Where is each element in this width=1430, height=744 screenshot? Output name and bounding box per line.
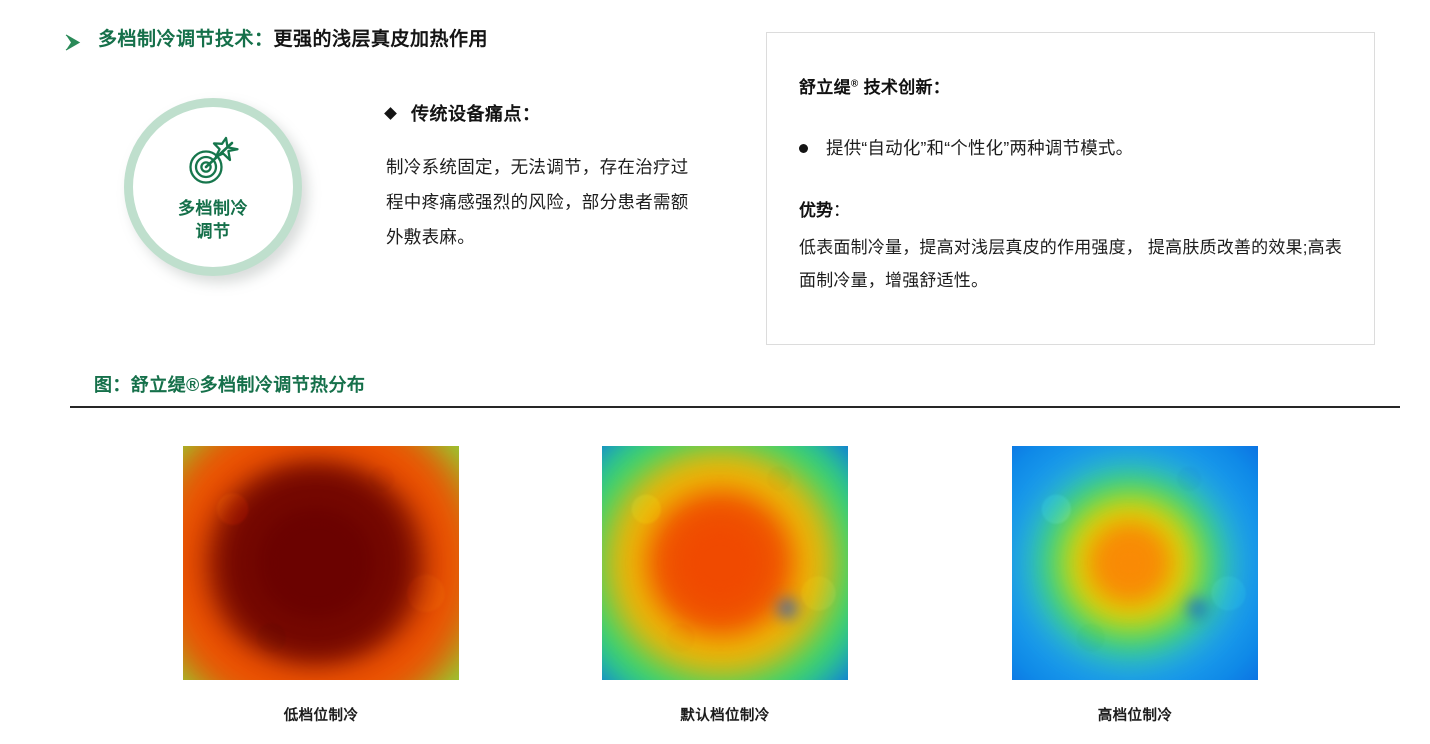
section-heading: 多档制冷调节技术：更强的浅层真皮加热作用	[62, 28, 488, 54]
badge-label-line1: 多档制冷	[178, 197, 248, 220]
thermal-heatmap-high	[1012, 446, 1258, 680]
innovation-info-box: 舒立缇® 技术创新： 提供“自动化”和“个性化”两种调节模式。 优势： 低表面制…	[766, 32, 1375, 345]
info-box-bullet-row: 提供“自动化”和“个性化”两种调节模式。	[799, 135, 1344, 160]
thermal-caption-low: 低档位制冷	[183, 704, 459, 725]
figure-divider	[70, 406, 1400, 408]
thermal-caption-high: 高档位制冷	[1012, 704, 1258, 725]
thermal-image-row: 低档位制冷 默认档位制冷 高档位制冷	[0, 446, 1430, 736]
advantage-title-text: 优势	[799, 201, 833, 220]
advantage-title-colon: ：	[833, 201, 850, 220]
advantage-body: 低表面制冷量，提高对浅层真皮的作用强度， 提高肤质改善的效果;高表面制冷量，增强…	[799, 231, 1344, 297]
thermal-panel-default: 默认档位制冷	[602, 446, 848, 725]
heading-green-text: 多档制冷调节技术：	[98, 29, 274, 50]
info-box-title-rest: 技术创新：	[864, 78, 951, 97]
badge-content: 多档制冷 调节	[124, 98, 302, 276]
thermal-panel-low: 低档位制冷	[183, 446, 459, 725]
heading-black-text: 更强的浅层真皮加热作用	[274, 29, 489, 50]
pain-point-title: 传统设备痛点：	[411, 100, 541, 126]
info-box-bullet-text: 提供“自动化”和“个性化”两种调节模式。	[826, 135, 1133, 160]
thermal-heatmap-low	[183, 446, 459, 680]
badge-label-line2: 调节	[178, 220, 248, 243]
pain-point-body: 制冷系统固定，无法调节，存在治疗过程中疼痛感强烈的风险，部分患者需额外敷表麻。	[386, 150, 696, 255]
registered-mark-icon: ®	[851, 78, 859, 89]
target-dart-icon	[182, 135, 244, 192]
figure-title: 图：舒立缇®多档制冷调节热分布	[94, 371, 365, 397]
thermal-panel-high: 高档位制冷	[1012, 446, 1258, 725]
pain-point-block: 传统设备痛点： 制冷系统固定，无法调节，存在治疗过程中疼痛感强烈的风险，部分患者…	[386, 100, 696, 255]
pain-point-title-row: 传统设备痛点：	[386, 100, 696, 126]
info-box-title: 舒立缇® 技术创新：	[799, 73, 1344, 98]
advantage-title: 优势：	[799, 196, 1344, 221]
feature-badge: 多档制冷 调节	[124, 98, 320, 280]
info-box-brand: 舒立缇	[799, 78, 851, 97]
thermal-heatmap-default	[602, 446, 848, 680]
thermal-caption-default: 默认档位制冷	[602, 704, 848, 725]
diamond-bullet-icon	[384, 107, 397, 120]
green-arrow-marker-icon	[62, 32, 84, 54]
round-bullet-icon	[799, 144, 808, 153]
